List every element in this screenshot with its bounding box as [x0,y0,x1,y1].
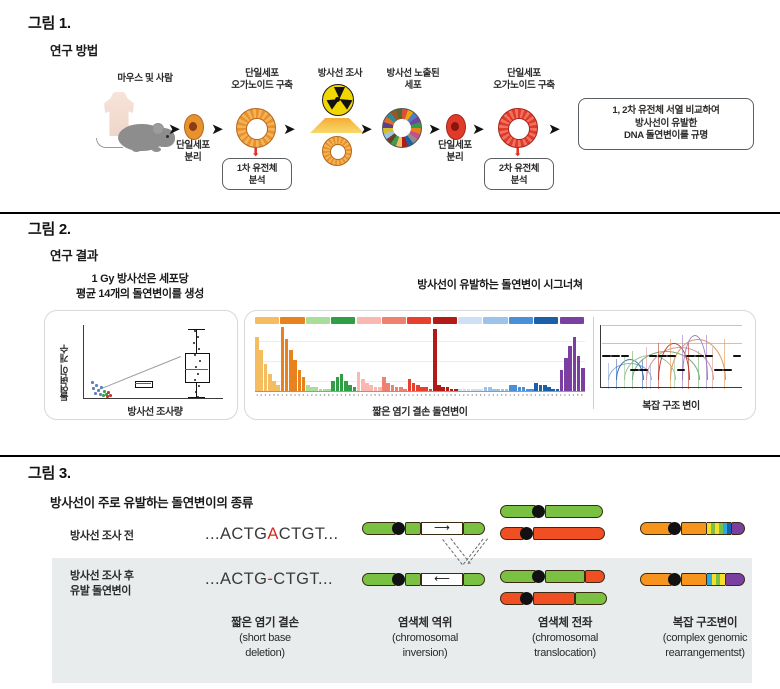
chr-green-right [545,505,603,518]
signature-bar [534,383,538,391]
signature-bar [412,383,416,391]
organoid-ring-irradiated-icon [322,136,352,166]
copy-number-segment [621,355,630,357]
radiation-beam-icon [310,118,364,133]
mouse-ear [152,123,164,135]
sv-x-axis [600,387,742,388]
complex-sv-chart: 복잡 구조 변이 [593,317,752,409]
signature-bar [564,358,568,391]
arrow-left-icon: ⟵ [434,574,450,585]
signature-bars [255,327,585,391]
translocation-after [500,570,640,610]
centromere [668,522,681,535]
centromere [520,592,533,605]
cell-nucleus [189,122,197,131]
complex-rearrangement-after [640,573,770,589]
flow-label-isolate1: 단일세포분리 [160,140,226,164]
copy-number-segment [667,355,676,357]
sv-caption: 복잡 구조 변이 [600,397,742,412]
organoid-ring-orange-icon [236,108,276,148]
flow-arrow: ➤ [283,122,296,137]
signature-panel: 1234561234561234561234561234561234561234… [244,310,756,420]
sequence-after: ...ACTG-CTGT... [205,570,333,589]
signature-x-axis [255,391,585,392]
signature-bar [365,383,369,391]
mouse-foot [132,147,141,152]
signature-bar [293,360,297,391]
signature-bar [298,370,302,391]
row-label-after: 방사선 조사 후유발 돌연변이 [70,569,134,600]
organoid-ring-multicolor-icon [382,108,422,148]
col3-name-ko: 염색체 전좌 [495,615,635,631]
category-band [433,317,457,324]
chr-arm-mid [405,573,421,586]
column-title-deletion: 짧은 염기 결손 (short basedeletion) [190,615,340,662]
row-label-before: 방사선 조사 전 [70,529,134,544]
category-band [560,317,584,324]
category-band [407,317,431,324]
signature-bar [581,368,585,391]
chromosome-inversion-after: ⟵ [362,573,512,589]
chr-translocated-red [585,570,605,583]
copy-number-segment [611,355,620,357]
copy-number-segment [695,355,704,357]
copy-number-segment [705,355,714,357]
copy-number-segment [658,355,667,357]
y-axis [83,325,84,399]
signature-bar [255,337,259,391]
organoid-lumen [393,119,411,137]
category-band [255,317,279,324]
chr-green-right [545,570,585,583]
indel-signature-chart: 1234561234561234561234561234561234561234… [255,317,585,409]
flow-label-exposed: 방사선 노출된세포 [368,68,458,92]
signature-bar [568,346,572,391]
chr-arm-right [463,522,485,535]
signature-bar [289,350,293,391]
signature-bar [573,337,577,391]
signature-bar [357,372,361,391]
arrow-right-icon: ⟶ [434,523,450,534]
signature-bar [361,379,365,391]
col4-name-ko: 복잡 구조변이 [630,615,780,631]
col2-name-ko: 염색체 역위 [355,615,495,631]
organoid-lumen [246,118,268,140]
category-band [382,317,406,324]
analysis1-box: 1차 유전체분석 [222,158,292,190]
organoid-lumen [508,118,530,140]
figure1-flow-diagram: 마우스 및 사람 ➤ 단일세포분리 ➤ 단일세포오가노이드 구축 ⬇ 1차 유전… [0,60,780,195]
signature-bar [336,377,340,391]
chr-purple-end [725,573,745,586]
chr-green-left [500,570,536,583]
figure3-mutation-types: 방사선 조사 전 방사선 조사 후유발 돌연변이 ...ACTGACTGT...… [0,465,780,689]
category-band [534,317,558,324]
single-cell-icon [184,114,202,138]
signature-bar [302,377,306,391]
y-axis-label: 돌연변이 개수 [59,329,73,401]
figure3-top-rule [0,455,780,457]
boxplot-mid-median [135,383,151,384]
translocation-before [500,505,640,545]
centromere [392,522,405,535]
centromere [532,505,545,518]
signature-caption: 짧은 염기 결손 돌연변이 [295,403,545,418]
signature-bar [268,374,272,391]
chr-arm-mid [405,522,421,535]
copy-number-track [602,347,742,383]
chr-translocated-green [575,592,607,605]
category-band [331,317,355,324]
column-title-inversion: 염색체 역위 (chromosomalinversion) [355,615,495,662]
category-band [357,317,381,324]
copy-number-segment [649,355,658,357]
signature-bar [272,381,276,391]
organoid-lumen [330,144,346,160]
copy-number-segment [686,355,695,357]
flow-arrow: ➤ [211,122,224,137]
category-band [509,317,533,324]
signature-tick-labels: 1234561234561234561234561234561234561234… [255,393,585,397]
sequence-before: ...ACTGACTGT... [205,525,338,544]
deleted-base-dash: - [267,570,273,588]
figure1-subtitle: 연구 방법 [50,40,98,59]
signature-bar [259,350,263,391]
chr-arm-left [362,522,396,535]
copy-number-segment [630,369,639,371]
conclusion-box: 1, 2차 유전체 서열 비교하여방사선이 유발한DNA 돌연변이를 규명 [578,98,754,150]
left-panel-title: 1 Gy 방사선은 세포당평균 14개의 돌연변이를 생성 [50,272,230,302]
figure2-results: 1 Gy 방사선은 세포당평균 14개의 돌연변이를 생성 돌연변이 개수 [0,268,780,438]
column-title-translocation: 염색체 전좌 (chromosomaltranslocation) [495,615,635,662]
single-cell-red-icon [446,114,464,138]
chr-red-right [533,527,605,540]
flow-arrow: ➤ [472,122,485,137]
copy-number-segment [723,369,732,371]
flow-label-isolate2: 단일세포분리 [422,140,488,164]
figure2-number: 그림 2. [28,218,71,239]
signature-bar [344,381,348,391]
flow-label-organoid2: 단일세포오가노이드 구축 [474,68,574,92]
signature-bar [382,377,386,391]
complex-rearrangement-before [640,522,770,538]
dose-response-panel: 돌연변이 개수 [44,310,238,420]
centromere [392,573,405,586]
signature-bar [577,356,581,391]
scatter-cluster-low [89,379,113,397]
copy-number-segment [677,369,686,371]
centromere [668,573,681,586]
copy-number-segment [714,369,723,371]
signature-bar [560,370,564,391]
flow-arrow: ➤ [168,122,181,137]
figure2-subtitle: 연구 결과 [50,245,98,264]
cell-nucleus [451,122,459,131]
sv-y-axis [600,325,601,387]
chr-arm-left [362,573,396,586]
radiation-trefoil-icon [322,84,354,116]
figure2-top-rule [0,212,780,214]
chromosome-inversion-before: ⟶ [362,522,512,538]
chr-orange-right [681,522,707,535]
figure1-number: 그림 1. [28,12,71,33]
signature-bar [281,327,285,391]
trefoil-center [335,97,340,102]
category-band [458,317,482,324]
chr-orange-right [681,573,707,586]
signature-bar [408,379,412,391]
chr-red-right [533,592,575,605]
centromere [520,527,533,540]
column-title-complex: 복잡 구조변이 (complex genomicrearrangementst) [630,615,780,662]
signature-bar [340,374,344,391]
copy-number-segment [639,369,648,371]
col1-name-ko: 짧은 염기 결손 [190,615,340,631]
copy-number-segment [733,355,742,357]
signature-bar [331,381,335,391]
signature-bar [386,383,390,391]
signature-bar [433,329,437,391]
mutated-base: A [267,525,278,543]
category-band [306,317,330,324]
x-axis-label: 방사선 조사량 [85,403,225,418]
analysis2-box: 2차 유전체분석 [484,158,554,190]
flow-label-source: 마우스 및 사람 [90,73,200,85]
inversion-segment-box: ⟶ [421,522,463,535]
signature-bar [264,364,268,391]
category-band [280,317,304,324]
flow-arrow: ➤ [428,122,441,137]
category-color-bands [255,317,585,324]
flow-label-organoid1: 단일세포오가노이드 구축 [212,68,312,92]
inverted-segment-box: ⟵ [421,573,463,586]
flow-arrow: ➤ [360,122,373,137]
copy-number-segment [602,355,611,357]
organoid-ring-red-icon [498,108,538,148]
chr-purple-end [731,522,745,535]
chr-arm-right [463,573,485,586]
category-band [483,317,507,324]
scatter-cluster-high [185,327,209,399]
chr-green-left [500,505,536,518]
centromere [532,570,545,583]
right-panel-title: 방사선이 유발하는 돌연변이 시그너쳐 [330,278,670,293]
flow-arrow: ➤ [548,122,561,137]
signature-bar [285,339,289,391]
